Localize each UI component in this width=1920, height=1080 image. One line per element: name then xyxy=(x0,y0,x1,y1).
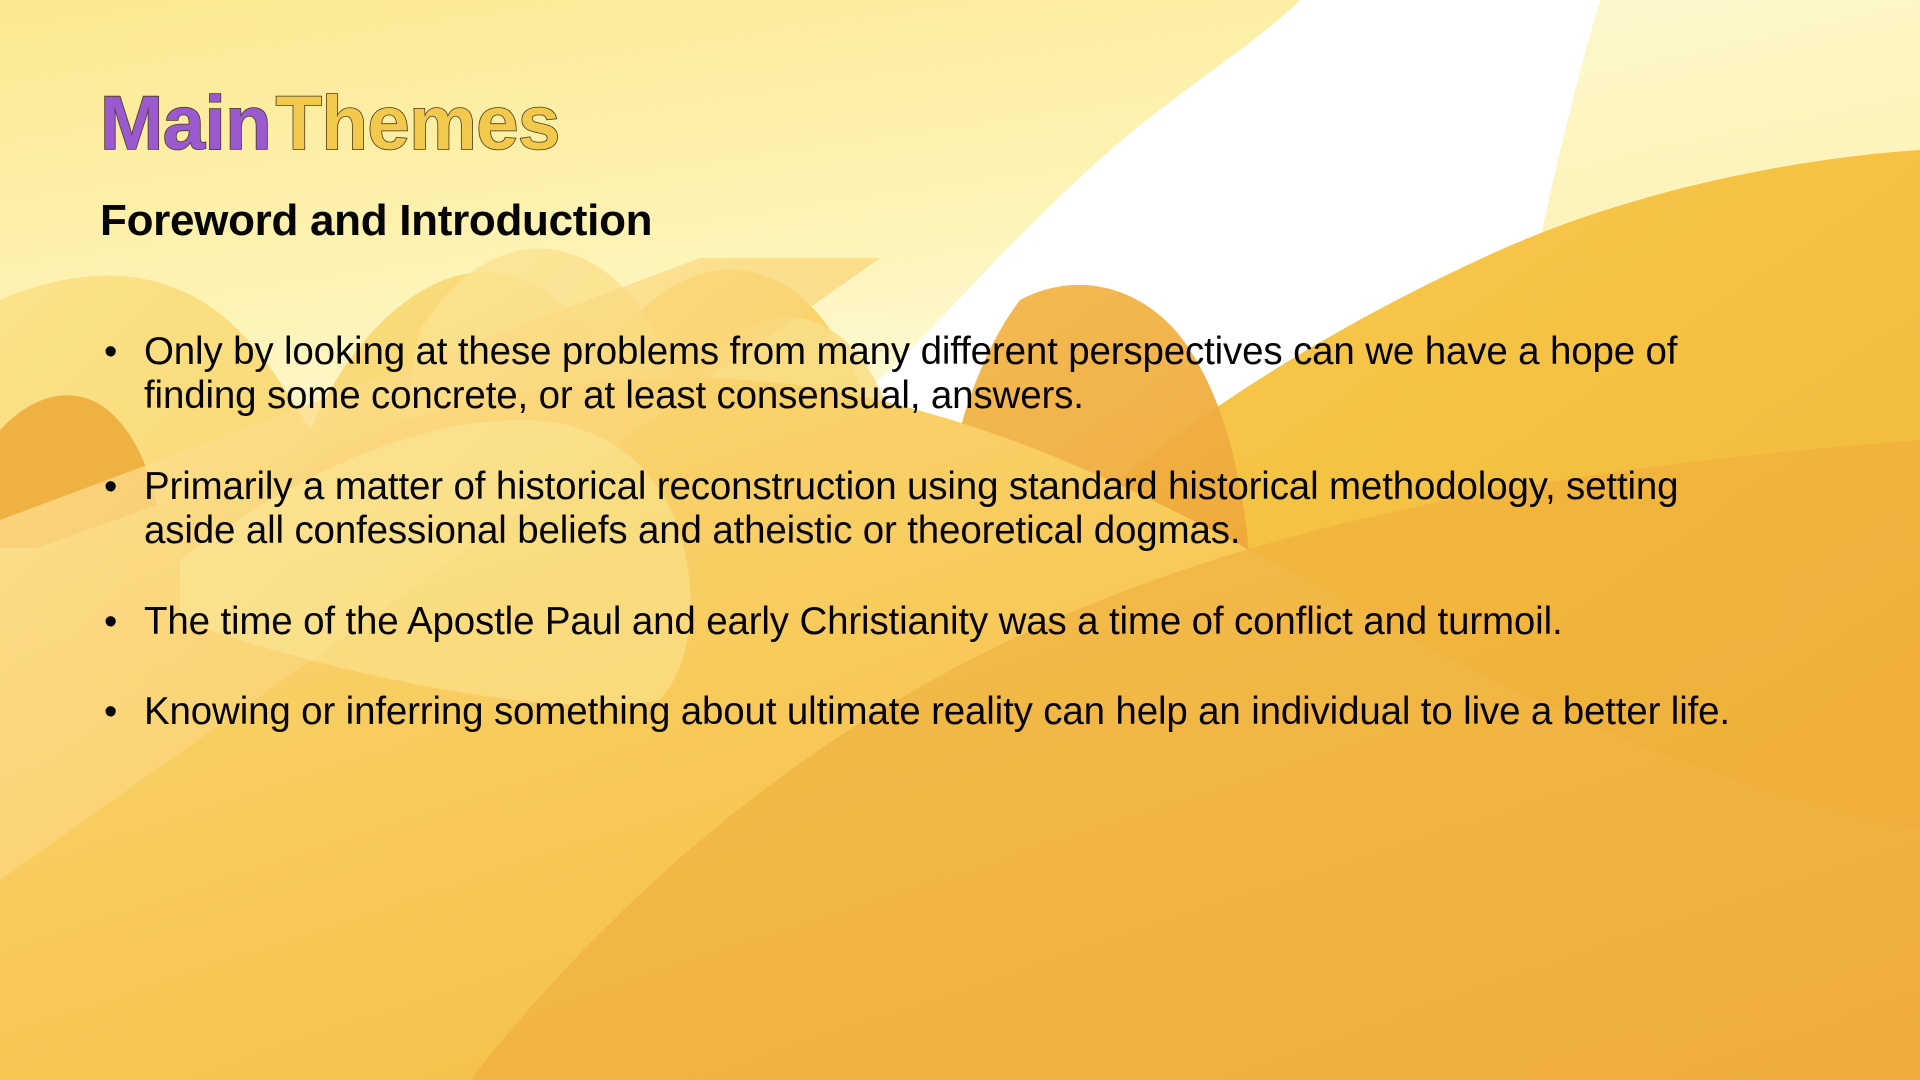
list-item: • Primarily a matter of historical recon… xyxy=(98,465,1788,554)
page-subtitle: Foreword and Introduction xyxy=(100,198,652,244)
list-item: • Only by looking at these problems from… xyxy=(98,330,1788,419)
slide-content: Main Themes Foreword and Introduction • … xyxy=(0,0,1920,1080)
bullet-point-icon: • xyxy=(98,600,144,644)
slide-canvas: Main Themes Foreword and Introduction • … xyxy=(0,0,1920,1080)
list-item: • The time of the Apostle Paul and early… xyxy=(98,600,1788,644)
bullet-point-icon: • xyxy=(98,690,144,734)
title-word-main: Main xyxy=(100,81,271,166)
list-item-text: Only by looking at these problems from m… xyxy=(144,330,1774,419)
title-word-themes: Themes xyxy=(276,81,560,166)
bullet-list: • Only by looking at these problems from… xyxy=(98,330,1788,735)
bullet-point-icon: • xyxy=(98,330,144,374)
list-item-text: The time of the Apostle Paul and early C… xyxy=(144,600,1774,644)
page-title: Main Themes xyxy=(100,86,560,162)
list-item: • Knowing or inferring something about u… xyxy=(98,690,1788,734)
bullet-point-icon: • xyxy=(98,465,144,509)
list-item-text: Knowing or inferring something about ult… xyxy=(144,690,1774,734)
list-item-text: Primarily a matter of historical reconst… xyxy=(144,465,1774,554)
